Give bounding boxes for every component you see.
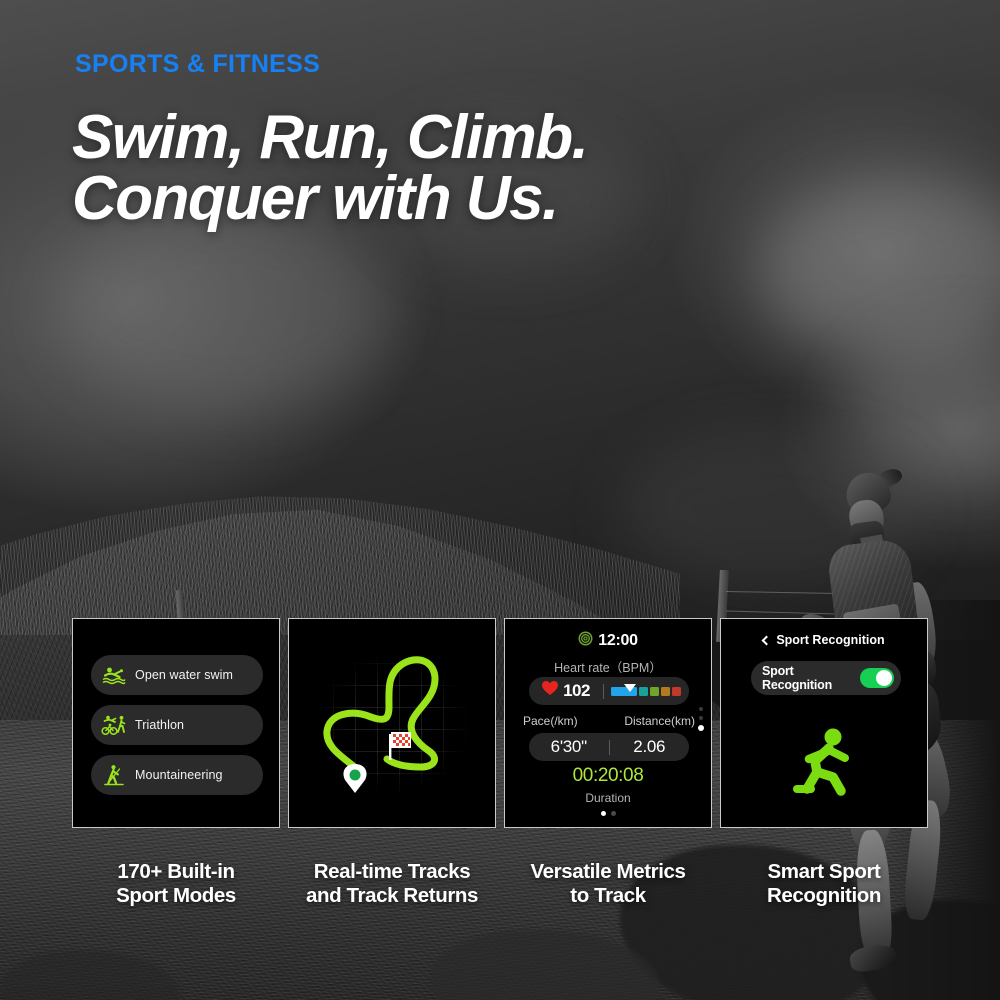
caption-sport-recognition: Smart Sport Recognition [720,860,928,907]
caption-line-2: to Track [504,884,712,908]
gps-signal-icon [578,631,593,651]
switch-knob [876,670,892,686]
heart-rate-value-group: 102 [529,681,603,701]
pace-label: Pace(/km) [523,714,578,728]
page-title: Swim, Run, Climb. Conquer with Us. [72,108,772,230]
caption-versatile-metrics: Versatile Metrics to Track [504,860,712,907]
distance-value: 2.06 [610,737,690,757]
hr-zone-bar [604,687,689,696]
back-chevron-icon[interactable] [762,635,772,645]
page-indicator[interactable] [505,811,711,816]
caption-sport-modes: 170+ Built-in Sport Modes [72,860,280,907]
toggle-label: Sport Recognition [762,664,860,692]
hr-zone-2 [639,687,648,696]
sport-mode-item-open-water-swim[interactable]: Open water swim [91,655,263,695]
pace-distance-pill[interactable]: 6'30" 2.06 [529,733,689,761]
caption-line-2: Sport Modes [72,884,280,908]
feature-cards-row: Open water swim [72,618,928,828]
sport-recognition-toggle-row[interactable]: Sport Recognition [751,661,901,695]
back-label: Sport Recognition [776,633,884,647]
heart-rate-value: 102 [563,681,590,701]
sport-mode-item-mountaineering[interactable]: Mountaineering [91,755,263,795]
card-sport-modes: Open water swim [72,618,280,828]
caption-realtime-track: Real-time Tracks and Track Returns [288,860,496,907]
duration-value: 00:20:08 [505,765,711,787]
scroll-dot [699,707,703,711]
sport-mode-list: Open water swim [91,655,263,795]
caption-line-1: Smart Sport [720,860,928,884]
recognition-frame [779,717,871,809]
swimmer-icon [101,664,127,686]
triathlon-icon [101,714,127,736]
screen-header[interactable]: Sport Recognition [721,633,927,647]
hr-zone-3 [650,687,659,696]
distance-label: Distance(km) [624,714,695,728]
heart-rate-label: Heart rate（BPM） [505,657,711,676]
map-pin-icon [343,764,366,793]
sport-recognition-switch[interactable] [860,668,894,688]
hr-zone-marker [624,684,636,692]
pace-value: 6'30" [529,737,609,757]
page-dot[interactable] [611,811,616,816]
eyebrow-label: SPORTS & FITNESS [75,50,320,79]
duration-label: Duration [505,791,711,805]
page-dot-active[interactable] [601,811,606,816]
pace-distance-labels: Pace(/km) Distance(km) [523,714,695,728]
scroll-dot [699,716,703,720]
headline-line-1: Swim, Run, Climb. [72,108,772,169]
caption-line-1: Real-time Tracks [288,860,496,884]
clock-time: 12:00 [598,632,637,650]
caption-line-2: and Track Returns [288,884,496,908]
headline-line-2: Conquer with Us. [72,169,772,230]
caption-row: 170+ Built-in Sport Modes Real-time Trac… [72,860,928,907]
card-sport-recognition: Sport Recognition Sport Recognition [720,618,928,828]
heart-rate-pill[interactable]: 102 [529,677,689,705]
sport-mode-label: Triathlon [135,718,184,732]
caption-line-1: 170+ Built-in [72,860,280,884]
time-row: 12:00 [505,631,711,651]
hr-zone-4 [661,687,670,696]
scroll-dot-active [698,725,704,731]
card-realtime-track [288,618,496,828]
hr-zone-5 [672,687,681,696]
sport-mode-item-triathlon[interactable]: Triathlon [91,705,263,745]
running-person-icon [793,727,857,804]
caption-line-2: Recognition [720,884,928,908]
heart-icon [542,681,558,701]
gps-track-path [289,619,496,828]
scroll-indicator[interactable] [698,707,704,731]
cloud [60,210,390,410]
caption-line-1: Versatile Metrics [504,860,712,884]
mountaineer-icon [101,764,127,786]
sport-mode-label: Mountaineering [135,768,223,782]
sport-mode-label: Open water swim [135,668,233,682]
card-versatile-metrics: 12:00 Heart rate（BPM） 102 [504,618,712,828]
